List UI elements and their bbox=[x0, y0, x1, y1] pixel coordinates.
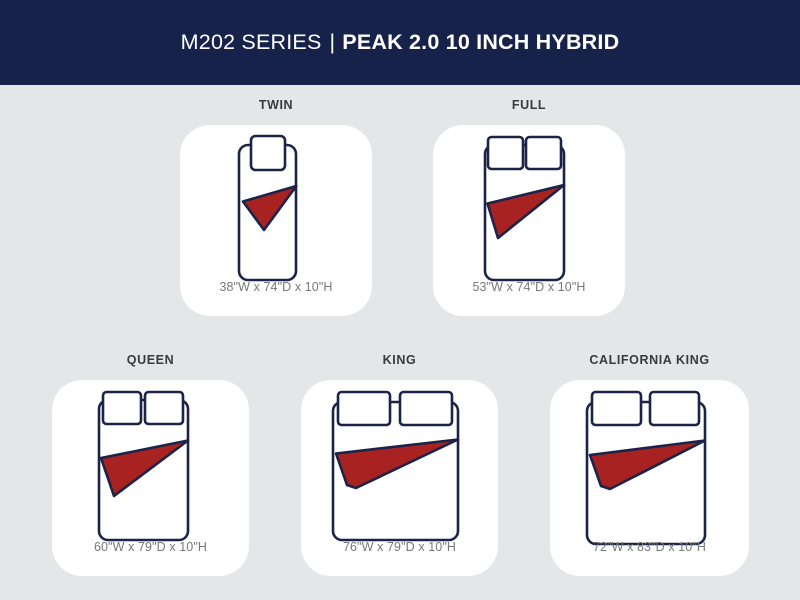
header-bar: M202 SERIES | PEAK 2.0 10 INCH HYBRID bbox=[0, 0, 800, 85]
size-label-king: KING bbox=[301, 353, 498, 369]
bed-top-view-icon-california-king bbox=[550, 380, 749, 542]
pillow-icon bbox=[650, 392, 699, 425]
size-card-king[interactable]: 76"W x 79"D x 10"H bbox=[301, 380, 498, 576]
size-block-california-king[interactable]: CALIFORNIA KING 72"W x 83"D x 10"H bbox=[550, 353, 749, 576]
size-dimensions-king: 76"W x 79"D x 10"H bbox=[301, 540, 498, 554]
pillow-icon bbox=[251, 136, 285, 170]
size-label-queen: QUEEN bbox=[52, 353, 249, 369]
pillow-icon bbox=[145, 392, 183, 424]
pillow-icon bbox=[400, 392, 452, 425]
size-dimensions-queen: 60"W x 79"D x 10"H bbox=[52, 540, 249, 554]
bed-top-view-icon-queen bbox=[52, 380, 249, 542]
bed-top-view-icon-full bbox=[433, 125, 625, 285]
pillow-icon bbox=[488, 137, 523, 169]
bed-top-view-icon-king bbox=[301, 380, 498, 542]
size-dimensions-twin: 38"W x 74"D x 10"H bbox=[180, 280, 372, 294]
size-dimensions-california-king: 72"W x 83"D x 10"H bbox=[550, 540, 749, 554]
size-block-queen[interactable]: QUEEN 60"W x 79"D x 10"H bbox=[52, 353, 249, 576]
size-card-california-king[interactable]: 72"W x 83"D x 10"H bbox=[550, 380, 749, 576]
size-card-twin[interactable]: 38"W x 74"D x 10"H bbox=[180, 125, 372, 316]
mattress-size-chart: TWIN 38"W x 74"D x 10"H FULL bbox=[0, 85, 800, 600]
pillow-icon bbox=[338, 392, 390, 425]
size-label-twin: TWIN bbox=[180, 98, 372, 114]
size-label-full: FULL bbox=[433, 98, 625, 114]
size-card-queen[interactable]: 60"W x 79"D x 10"H bbox=[52, 380, 249, 576]
size-block-king[interactable]: KING 76"W x 79"D x 10"H bbox=[301, 353, 498, 576]
size-card-full[interactable]: 53"W x 74"D x 10"H bbox=[433, 125, 625, 316]
pillow-icon bbox=[592, 392, 641, 425]
bed-top-view-icon-twin bbox=[180, 125, 372, 285]
size-block-full[interactable]: FULL 53"W x 74"D x 10"H bbox=[433, 98, 625, 316]
pillow-icon bbox=[103, 392, 141, 424]
header-series-label: M202 SERIES bbox=[181, 30, 322, 55]
size-dimensions-full: 53"W x 74"D x 10"H bbox=[433, 280, 625, 294]
header-separator: | bbox=[322, 30, 343, 55]
size-label-california-king: CALIFORNIA KING bbox=[550, 353, 749, 369]
header-model-label: PEAK 2.0 10 INCH HYBRID bbox=[342, 30, 619, 55]
page-title: M202 SERIES | PEAK 2.0 10 INCH HYBRID bbox=[181, 30, 620, 55]
size-block-twin[interactable]: TWIN 38"W x 74"D x 10"H bbox=[180, 98, 372, 316]
pillow-icon bbox=[526, 137, 561, 169]
